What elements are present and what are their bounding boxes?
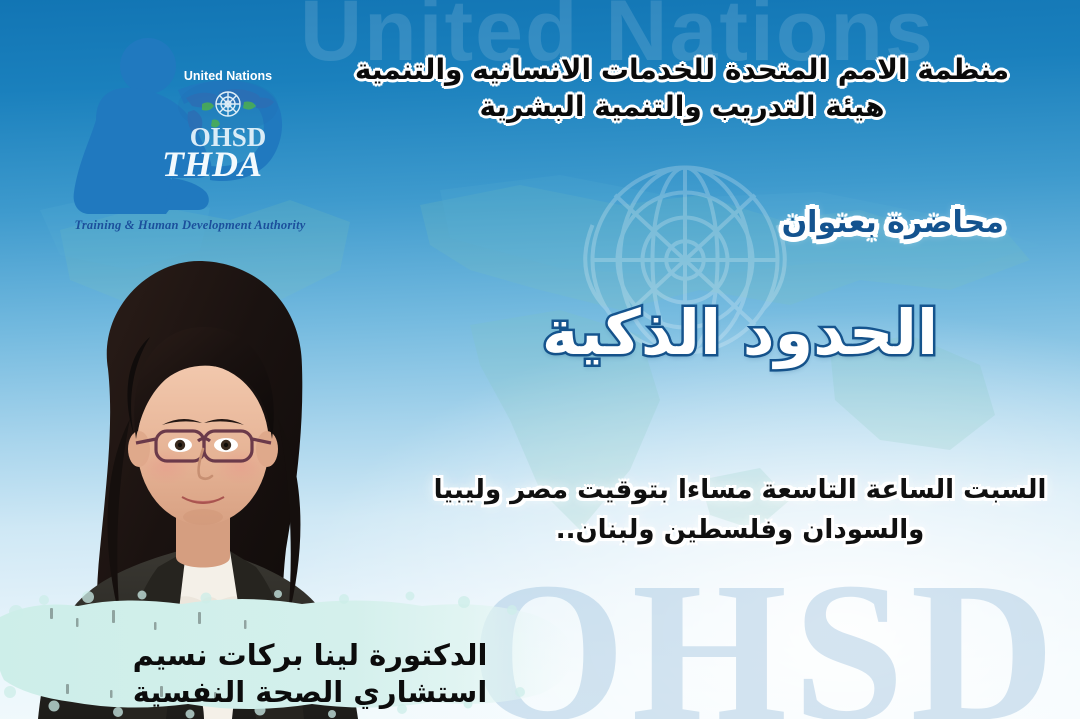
logo-united-nations-text: United Nations [184,69,272,83]
thda-ohsd-logo: United Nations OHSD THDA [60,28,320,248]
organization-header: منظمة الامم المتحدة للخدمات الانسانيه وا… [322,52,1042,126]
lecture-title: الحدود الذكية [400,296,1080,369]
org-header-line-2: هيئة التدريب والتنمية البشرية [322,89,1042,126]
logo-thda-text: THDA [162,144,262,184]
org-header-line-1: منظمة الامم المتحدة للخدمات الانسانيه وا… [322,52,1042,89]
speaker-name: الدكتورة لينا بركات نسيم [40,637,580,674]
datetime-block: السبت الساعة التاسعة مساءا بتوقيت مصر ول… [430,470,1050,551]
lecture-label: محاضرة بعنوان [782,205,1004,240]
speaker-info: الدكتورة لينا بركات نسيم استشاري الصحة ا… [0,637,580,711]
lecture-poster: United Nations [0,0,1080,719]
speaker-title: استشاري الصحة النفسية [40,674,580,711]
datetime-line-2: والسودان وفلسطين ولبنان.. [430,510,1050,550]
datetime-line-1: السبت الساعة التاسعة مساءا بتوقيت مصر ول… [430,470,1050,510]
logo-caption: Training & Human Development Authority [60,218,320,233]
